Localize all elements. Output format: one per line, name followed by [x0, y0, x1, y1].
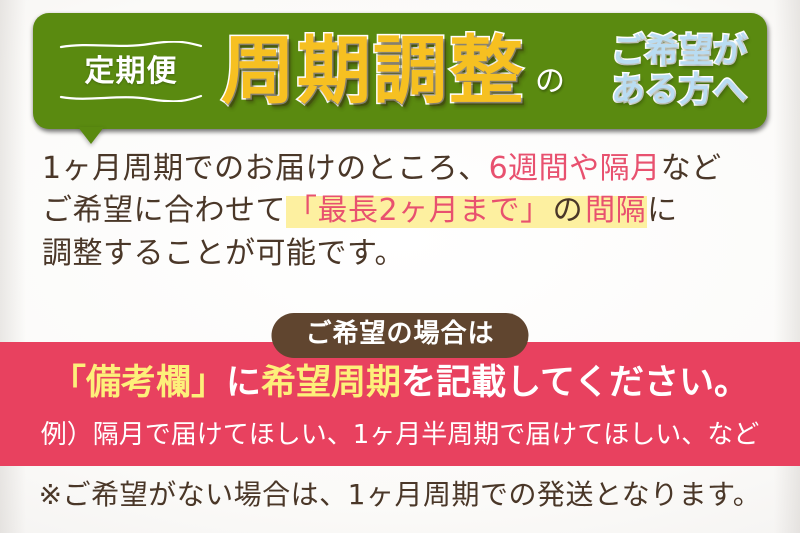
callout-main-text: 「備考欄」に希望周期を記載してください。	[0, 364, 800, 403]
description-line-2-part-1: ご希望に合わせて	[42, 193, 286, 228]
description-line-3: 調整することが可能です。	[42, 235, 780, 273]
callout-main-plain-1: に	[226, 363, 261, 403]
header-subtitle-line-1: ご希望が	[611, 33, 747, 70]
speech-bubble-tail-icon	[78, 127, 104, 144]
header-subtitle-line-2: ある方へ	[611, 72, 747, 109]
description-line-2-highlight-end: 間隔	[584, 193, 647, 228]
header-title: 周期調整	[221, 34, 525, 108]
description-line-1-part-1: 1ヶ月周期でのお届けのところ、	[42, 151, 489, 186]
subscription-badge: 定期便	[55, 41, 207, 102]
callout-main-plain-2: を記載してください。	[401, 363, 749, 403]
header-banner: 定期便 周期調整 の ご希望が ある方へ	[33, 13, 767, 129]
description-line-1-emphasis: 6週間や隔月	[489, 151, 661, 186]
description-line-2-part-2: に	[647, 193, 678, 228]
description-line-2-highlight-mid: の	[552, 193, 585, 228]
description-line-2: ご希望に合わせて「最長2ヶ月まで」の間隔に	[42, 192, 780, 230]
wave-line-bottom-icon	[59, 93, 203, 102]
description-line-1: 1ヶ月周期でのお届けのところ、6週間や隔月など	[42, 150, 780, 188]
description-line-2-highlight-quote: 「最長2ヶ月まで」	[286, 193, 552, 228]
description-line-1-part-2: など	[661, 151, 722, 186]
subscription-badge-label: 定期便	[55, 55, 207, 88]
header-title-particle: の	[535, 67, 565, 97]
callout-main-highlight-2: 希望周期	[261, 363, 401, 403]
footer-note: ※ご希望がない場合は、1ヶ月周期での発送となります。	[0, 480, 800, 511]
callout-example-text: 例）隔月で届けてほしい、1ヶ月半周期で届けてほしい、など	[0, 421, 800, 450]
header-subtitle: ご希望が ある方へ	[611, 33, 747, 108]
promo-banner: 定期便 周期調整 の ご希望が ある方へ 1ヶ月周期でのお届けのところ、6週間や…	[0, 0, 800, 533]
callout-pill-label: ご希望の場合は	[271, 313, 528, 358]
wave-line-top-icon	[59, 41, 203, 50]
callout-main-highlight-1: 「備考欄」	[51, 363, 226, 403]
description-paragraph: 1ヶ月周期でのお届けのところ、6週間や隔月など ご希望に合わせて「最長2ヶ月まで…	[0, 150, 800, 277]
